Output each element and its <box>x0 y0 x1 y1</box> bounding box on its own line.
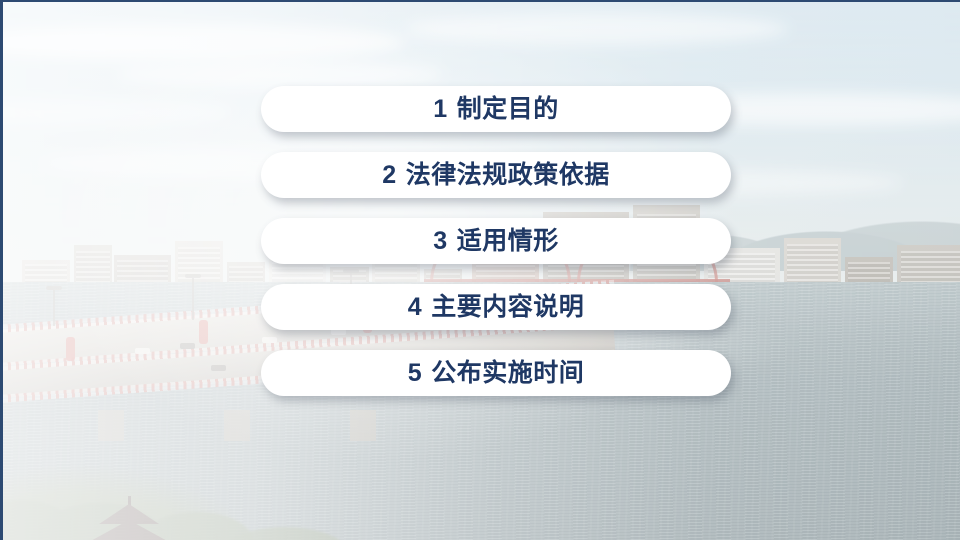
agenda-item-number: 4 <box>408 293 422 321</box>
agenda-item-label: 法律法规政策依据 <box>406 161 610 189</box>
agenda-item-text: 1制定目的 <box>433 97 558 122</box>
agenda-list: 1制定目的 2法律法规政策依据 3适用情形 4主要内容说明 5公布实施时间 <box>261 86 731 396</box>
agenda-item-text: 2法律法规政策依据 <box>382 163 609 188</box>
agenda-item-number: 2 <box>382 161 396 189</box>
agenda-item-text: 3适用情形 <box>433 229 558 254</box>
agenda-item-label: 制定目的 <box>457 95 559 123</box>
agenda-item-4[interactable]: 4主要内容说明 <box>261 284 731 330</box>
agenda-item-text: 5公布实施时间 <box>408 361 584 386</box>
agenda-item-label: 主要内容说明 <box>431 293 584 321</box>
agenda-item-number: 1 <box>433 95 447 123</box>
agenda-item-1[interactable]: 1制定目的 <box>261 86 731 132</box>
agenda-item-text: 4主要内容说明 <box>408 295 584 320</box>
agenda-item-3[interactable]: 3适用情形 <box>261 218 731 264</box>
agenda-item-label: 公布实施时间 <box>431 359 584 387</box>
agenda-item-number: 3 <box>433 227 447 255</box>
presentation-slide: 1制定目的 2法律法规政策依据 3适用情形 4主要内容说明 5公布实施时间 <box>0 0 960 540</box>
agenda-item-5[interactable]: 5公布实施时间 <box>261 350 731 396</box>
agenda-item-2[interactable]: 2法律法规政策依据 <box>261 152 731 198</box>
agenda-item-number: 5 <box>408 359 422 387</box>
agenda-item-label: 适用情形 <box>457 227 559 255</box>
